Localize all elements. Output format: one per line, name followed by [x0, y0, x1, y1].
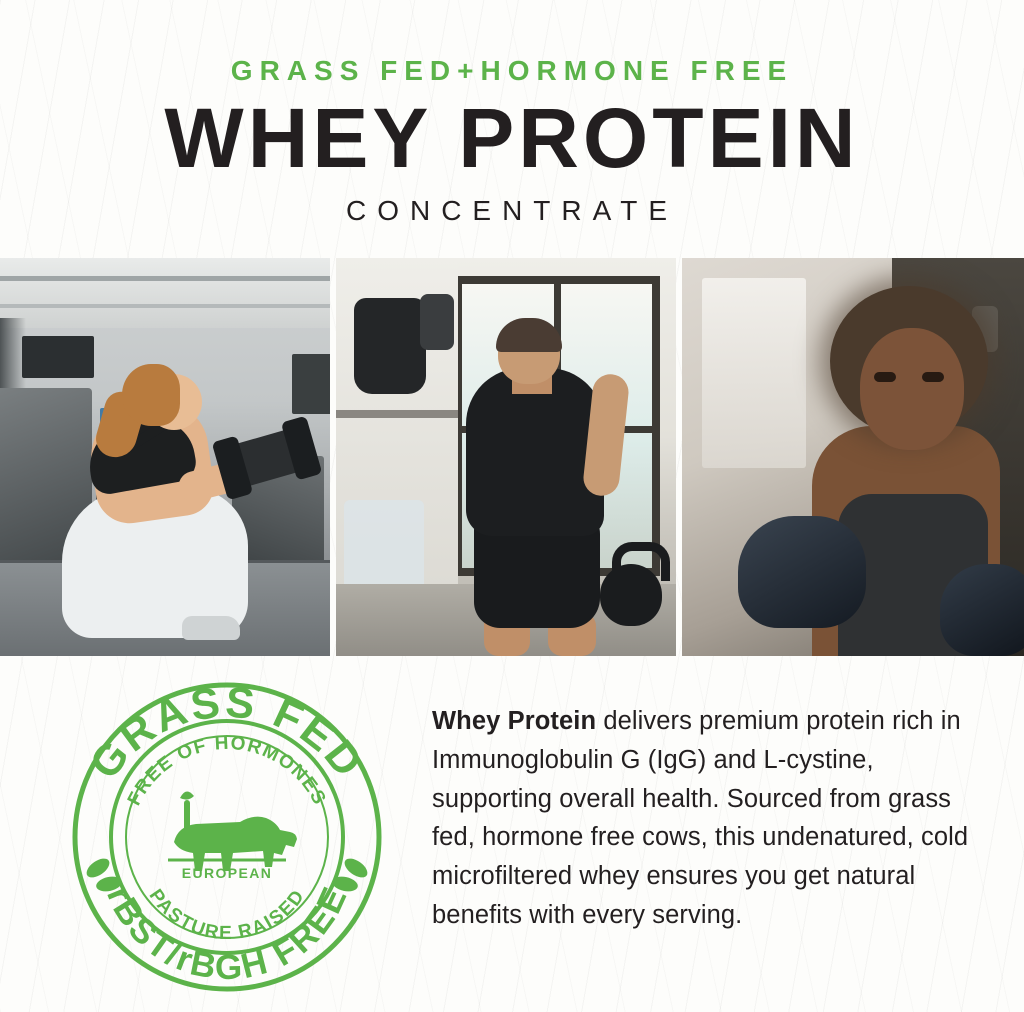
athlete-figure-1: [62, 378, 250, 638]
wall-shelf: [336, 410, 458, 418]
shoe: [182, 616, 240, 640]
gym-bag: [354, 298, 426, 394]
ceiling: [0, 258, 330, 328]
body-copy: Whey Protein delivers premium protein ri…: [432, 702, 992, 935]
photo-woman-dumbbell: [0, 258, 330, 656]
photo-strip: [0, 258, 1024, 656]
gym-scene-3: [682, 258, 1024, 656]
boxing-glove-back: [940, 564, 1024, 656]
athlete-figure-3: [726, 276, 1024, 656]
wall-monitor: [22, 336, 94, 378]
eyebrow-text: GRASS FED+HORMONE FREE: [0, 55, 1024, 87]
photo-man-kettlebell: [336, 258, 676, 656]
page-title: WHEY PROTEIN: [0, 99, 1024, 179]
gym-scene-2: [336, 258, 676, 656]
athlete-figure-2: [444, 296, 634, 656]
body-copy-lead: Whey Protein: [432, 707, 596, 735]
hair-2: [496, 318, 562, 352]
header: GRASS FED+HORMONE FREE WHEY PROTEIN CONC…: [0, 0, 1024, 252]
kettlebell-icon: [600, 564, 662, 626]
photo-woman-boxing: [682, 258, 1024, 656]
gym-scene-1: [0, 258, 330, 656]
eye-left: [874, 372, 896, 382]
storage-bin: [344, 500, 424, 596]
seal-center-small: EUROPEAN: [182, 865, 273, 881]
bottom-section: GRASS FED rBST/rBGH FREE FREE OF HORMONE…: [0, 660, 1024, 1012]
product-banner: GRASS FED+HORMONE FREE WHEY PROTEIN CONC…: [0, 0, 1024, 1012]
body-copy-rest: delivers premium protein rich in Immunog…: [432, 707, 968, 929]
grass-fed-seal: GRASS FED rBST/rBGH FREE FREE OF HORMONE…: [62, 672, 392, 1002]
face: [860, 328, 964, 450]
wall-monitor-2: [292, 354, 330, 414]
eye-right: [922, 372, 944, 382]
hair: [122, 364, 180, 426]
page-subtitle: CONCENTRATE: [0, 195, 1024, 227]
boxing-glove-front: [738, 516, 866, 628]
